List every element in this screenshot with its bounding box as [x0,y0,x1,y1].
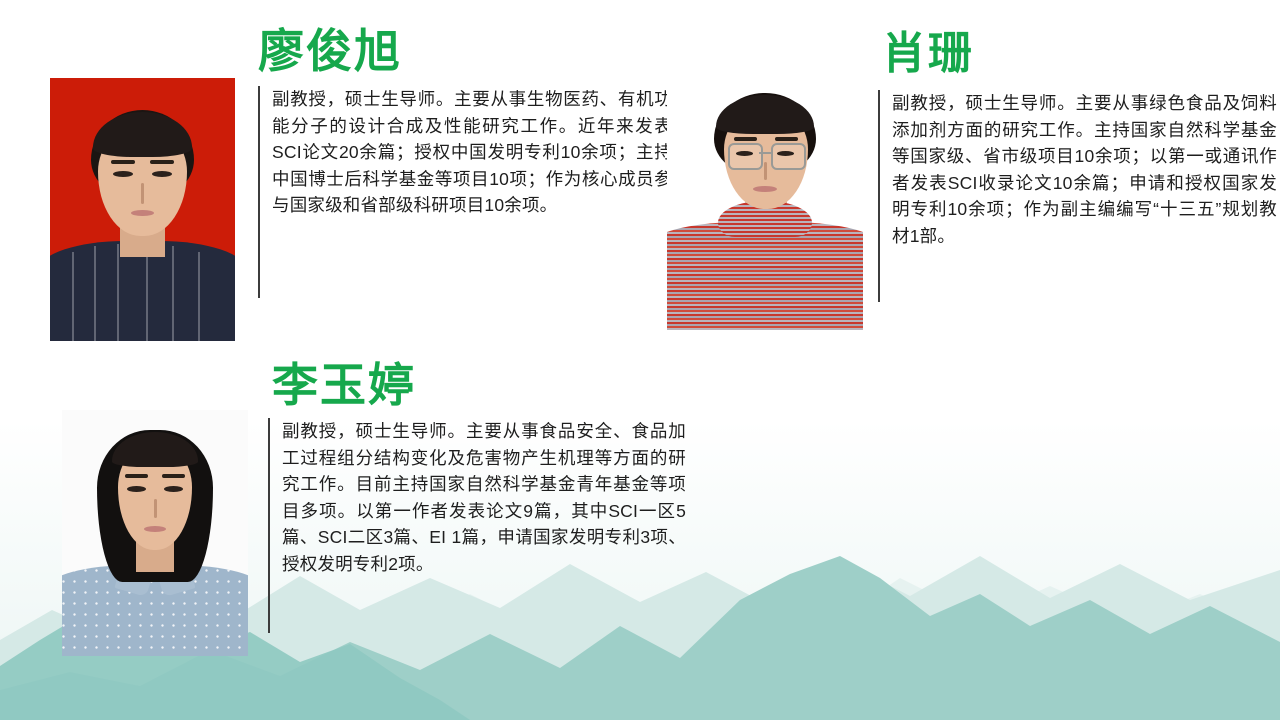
bio-divider-rule-3 [268,418,270,633]
profile-photo-1 [50,78,235,341]
profile-photo-3 [62,410,248,656]
profile-photo-2 [667,72,863,330]
profile-bio-1: 副教授，硕士生导师。主要从事生物医药、有机功能分子的设计合成及性能研究工作。近年… [272,86,672,298]
bio-divider-rule-2 [878,90,880,302]
bio-divider-rule-1 [258,86,260,298]
slide-canvas: 廖俊旭 副教授，硕士生导师。主要从事生物医药、有机功能分子的设计合成及性能研究工… [0,0,1280,720]
profile-name-3: 李玉婷 [272,362,416,408]
profile-name-2: 肖珊 [882,32,974,76]
profile-bio-2: 副教授，硕士生导师。主要从事绿色食品及饲料添加剂方面的研究工作。主持国家自然科学… [892,90,1277,302]
profile-bio-block-3: 副教授，硕士生导师。主要从事食品安全、食品加工过程组分结构变化及危害物产生机理等… [268,418,686,633]
profile-name-1: 廖俊旭 [258,28,402,74]
profile-bio-3: 副教授，硕士生导师。主要从事食品安全、食品加工过程组分结构变化及危害物产生机理等… [282,418,686,633]
profile-bio-block-2: 副教授，硕士生导师。主要从事绿色食品及饲料添加剂方面的研究工作。主持国家自然科学… [878,90,1278,302]
profile-bio-block-1: 副教授，硕士生导师。主要从事生物医药、有机功能分子的设计合成及性能研究工作。近年… [258,86,676,298]
